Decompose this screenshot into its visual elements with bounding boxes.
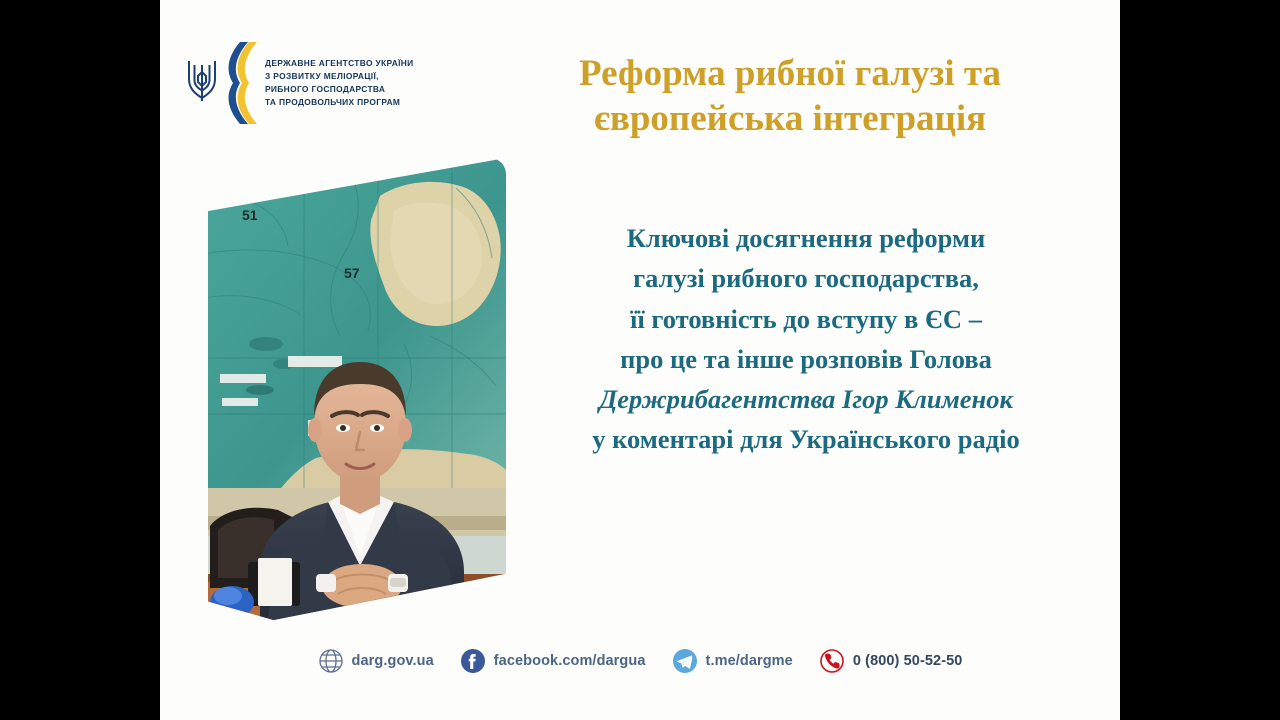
body-line-1: Ключові досягнення реформи: [500, 218, 1112, 258]
phone-icon: [819, 648, 845, 674]
slide-canvas: ДЕРЖАВНЕ АГЕНТСТВО УКРАЇНИ З РОЗВИТКУ МЕ…: [160, 0, 1120, 720]
body-text: Ключові досягнення реформи галузі рибног…: [500, 218, 1112, 460]
blue-yellow-ribbon-icon: [228, 42, 260, 124]
contact-phone-label: 0 (800) 50-52-50: [853, 653, 963, 669]
contact-facebook[interactable]: facebook.com/dargua: [460, 648, 646, 674]
svg-text:51: 51: [242, 207, 258, 223]
contact-telegram-label: t.me/dargme: [706, 653, 793, 669]
video-frame: ДЕРЖАВНЕ АГЕНТСТВО УКРАЇНИ З РОЗВИТКУ МЕ…: [0, 0, 1280, 720]
contact-website[interactable]: darg.gov.ua: [318, 648, 434, 674]
portrait-photo-inner: 51 57: [208, 158, 506, 620]
portrait-photo: 51 57: [208, 158, 506, 620]
body-line-2: галузі рибного господарства,: [500, 258, 1112, 298]
ukraine-trident-emblem-icon: [185, 57, 219, 109]
agency-logo-text: ДЕРЖАВНЕ АГЕНТСТВО УКРАЇНИ З РОЗВИТКУ МЕ…: [265, 57, 414, 108]
telegram-icon: [672, 648, 698, 674]
footer-contacts: darg.gov.ua facebook.com/dargua: [160, 648, 1120, 674]
letterbox-bar-right: [1120, 0, 1280, 720]
body-line-3: її готовність до вступу в ЄС –: [500, 299, 1112, 339]
contact-facebook-label: facebook.com/dargua: [494, 653, 646, 669]
letterbox-bar-left: [0, 0, 160, 720]
facebook-icon: [460, 648, 486, 674]
body-line-4: про це та інше розповів Голова: [500, 339, 1112, 379]
svg-text:57: 57: [344, 265, 360, 281]
globe-icon: [318, 648, 344, 674]
contact-telegram[interactable]: t.me/dargme: [672, 648, 793, 674]
contact-phone[interactable]: 0 (800) 50-52-50: [819, 648, 963, 674]
page-title: Реформа рибної галузі та європейська інт…: [490, 51, 1090, 141]
agency-logo: ДЕРЖАВНЕ АГЕНТСТВО УКРАЇНИ З РОЗВИТКУ МЕ…: [185, 42, 414, 124]
body-line-5: Держрибагентства Ігор Клименок: [500, 379, 1112, 419]
contact-website-label: darg.gov.ua: [352, 653, 434, 669]
body-line-6: у коментарі для Українського радіо: [500, 419, 1112, 459]
